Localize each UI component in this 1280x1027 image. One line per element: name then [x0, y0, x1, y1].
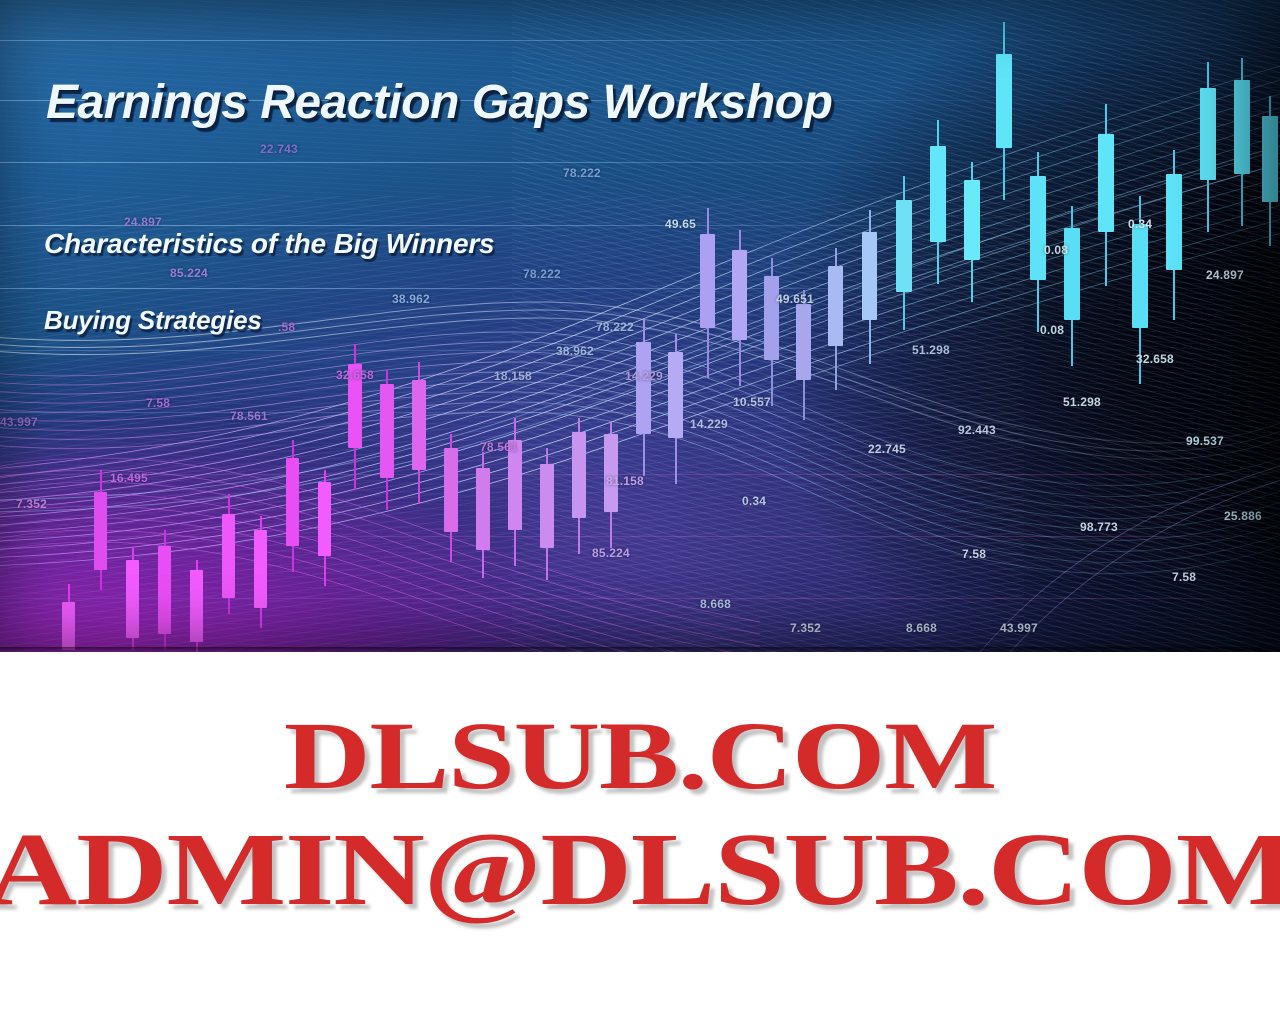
- candlestick: [636, 318, 651, 476]
- candlestick: [1262, 96, 1278, 246]
- candlestick: [286, 440, 299, 572]
- candlestick: [700, 208, 715, 378]
- chart-value-label: 99.537: [1186, 434, 1224, 448]
- chart-value-label: 38.962: [556, 344, 594, 358]
- chart-value-label: 0.08: [1040, 323, 1064, 337]
- candlestick: [318, 470, 331, 586]
- chart-value-label: 24.897: [124, 215, 162, 229]
- candlestick: [222, 494, 235, 614]
- chart-value-label: 78.561: [230, 409, 268, 423]
- chart-value-label: 7.352: [16, 497, 47, 511]
- chart-value-label: 92.443: [958, 423, 996, 437]
- candlestick: [1064, 206, 1080, 366]
- candlestick: [254, 516, 267, 628]
- candlestick: [862, 210, 877, 364]
- subtitle-buying-strategies: Buying Strategies: [44, 305, 262, 336]
- chart-value-label: 7.58: [1172, 570, 1196, 584]
- candlestick: [158, 530, 171, 650]
- chart-value-label: 32.658: [336, 368, 374, 382]
- candlestick: [1098, 104, 1114, 286]
- chart-value-label: 16.495: [110, 471, 148, 485]
- chart-value-label: 0.08: [1044, 243, 1068, 257]
- candlestick: [1166, 150, 1182, 320]
- candlestick: [930, 120, 946, 284]
- chart-value-label: 14.229: [625, 369, 663, 383]
- candlestick: [572, 418, 586, 554]
- watermark-area: DLSUB.COM ADMIN@DLSUB.COM: [0, 652, 1280, 1027]
- candlestick: [1234, 58, 1250, 226]
- chart-value-label: 8.668: [906, 621, 937, 635]
- candlestick: [668, 334, 683, 484]
- candlestick: [380, 370, 394, 510]
- chart-value-label: 78.222: [523, 267, 561, 281]
- chart-value-label: 51.298: [1063, 395, 1101, 409]
- chart-value-label: 78.222: [596, 320, 634, 334]
- chart-value-label: 78.222: [563, 166, 601, 180]
- chart-value-label: 85.224: [592, 546, 630, 560]
- candlestick: [126, 548, 139, 650]
- chart-value-label: 81.158: [606, 474, 644, 488]
- chart-value-label: 43.997: [1000, 621, 1038, 635]
- candlestick: [828, 248, 843, 390]
- chart-value-label: 0.34: [1128, 217, 1152, 231]
- chart-value-label: 22.745: [868, 442, 906, 456]
- chart-value-label: 7.352: [790, 621, 821, 635]
- chart-value-label: 0.34: [742, 494, 766, 508]
- chart-value-label: 8.668: [700, 597, 731, 611]
- chart-value-label: 7.58: [962, 547, 986, 561]
- candlestick: [1200, 62, 1216, 232]
- cover-page: 22.74378.22224.89749.6585.22478.2220.342…: [0, 0, 1280, 1027]
- candlestick: [348, 344, 362, 490]
- candlestick: [764, 258, 779, 406]
- candlestick: [964, 162, 980, 302]
- chart-value-label: .58: [278, 320, 295, 334]
- watermark-email: ADMIN@DLSUB.COM: [0, 810, 1280, 929]
- subtitle-characteristics: Characteristics of the Big Winners: [44, 228, 494, 260]
- chart-background: 22.74378.22224.89749.6585.22478.2220.342…: [0, 0, 1280, 652]
- candlestick: [996, 22, 1012, 200]
- chart-value-label: 22.743: [260, 142, 298, 156]
- chart-value-label: 18.158: [494, 369, 532, 383]
- chart-value-label: 78.561: [480, 440, 518, 454]
- candlestick: [1030, 152, 1046, 332]
- chart-value-label: 14.229: [690, 417, 728, 431]
- chart-value-label: 49.651: [776, 292, 814, 306]
- chart-value-label: 32.658: [1136, 352, 1174, 366]
- candlestick: [540, 448, 554, 580]
- candlestick: [412, 362, 426, 504]
- candlestick: [732, 230, 747, 386]
- chart-value-label: 24.897: [1206, 268, 1244, 282]
- chart-value-label: 98.773: [1080, 520, 1118, 534]
- chart-value-label: 51.298: [912, 343, 950, 357]
- candlestick: [94, 470, 107, 590]
- chart-value-label: 38.962: [392, 292, 430, 306]
- watermark-site-url: DLSUB.COM: [0, 700, 1280, 811]
- chart-value-label: 7.58: [146, 396, 170, 410]
- candlestick: [896, 176, 912, 330]
- course-cover-banner: 22.74378.22224.89749.6585.22478.2220.342…: [0, 0, 1280, 652]
- page-title: Earnings Reaction Gaps Workshop: [46, 75, 832, 130]
- chart-value-label: 85.224: [170, 266, 208, 280]
- candlestick: [796, 290, 811, 420]
- chart-value-label: 10.557: [733, 395, 771, 409]
- candlestick: [62, 584, 75, 650]
- candlestick: [444, 434, 458, 562]
- chart-value-label: 43.997: [0, 415, 38, 429]
- chart-value-label: 49.65: [665, 217, 696, 231]
- candlestick: [476, 452, 490, 578]
- chart-value-label: 25.886: [1224, 509, 1262, 523]
- candlestick: [190, 560, 203, 652]
